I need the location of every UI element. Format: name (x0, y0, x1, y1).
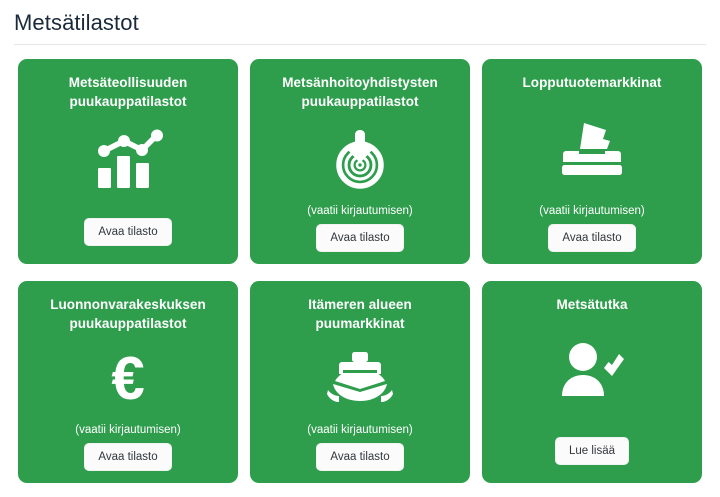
card-luonnonvarakeskuksen-puukauppatilastot[interactable]: Luonnonvarakeskuksen puukauppatilastot €… (18, 281, 238, 483)
page-header: Metsätilastot (0, 0, 720, 45)
card-login-note: (vaatii kirjautumisen) (307, 204, 412, 219)
svg-text:€: € (111, 347, 144, 411)
open-statistic-button[interactable]: Avaa tilasto (548, 224, 635, 252)
card-login-note: (vaatii kirjautumisen) (539, 204, 644, 219)
statistics-card-grid: Metsäteollisuuden puukauppatilastot (18, 59, 702, 483)
card-title: Itämeren alueen puumarkkinat (260, 295, 460, 333)
card-title: Metsänhoitoyhdistysten puukauppatilastot (260, 73, 460, 111)
card-lopputuotemarkkinat[interactable]: Lopputuotemarkkinat (vaatii kirjautumise… (482, 59, 702, 264)
bar-chart-trend-icon (28, 111, 228, 218)
card-title: Lopputuotemarkkinat (492, 73, 692, 92)
card-title: Metsäteollisuuden puukauppatilastot (28, 73, 228, 111)
card-login-note: (vaatii kirjautumisen) (75, 423, 180, 438)
card-metsateollisuuden-puukauppatilastot[interactable]: Metsäteollisuuden puukauppatilastot (18, 59, 238, 264)
card-login-note: (vaatii kirjautumisen) (307, 423, 412, 438)
card-metsanhoitoyhdistysten-puukauppatilastot[interactable]: Metsänhoitoyhdistysten puukauppatilastot (250, 59, 470, 264)
tree-stump-arrow-icon (260, 111, 460, 204)
euro-sign-icon: € (28, 333, 228, 423)
title-divider (14, 44, 706, 45)
card-title: Metsätutka (492, 295, 692, 314)
card-itameren-alueen-puumarkkinat[interactable]: Itämeren alueen puumarkkinat (vaatii kir… (250, 281, 470, 483)
user-check-icon (492, 314, 692, 437)
open-statistic-button[interactable]: Avaa tilasto (316, 224, 403, 252)
card-title: Luonnonvarakeskuksen puukauppatilastot (28, 295, 228, 333)
open-statistic-button[interactable]: Avaa tilasto (84, 443, 171, 471)
read-more-button[interactable]: Lue lisää (555, 437, 629, 465)
open-statistic-button[interactable]: Avaa tilasto (316, 443, 403, 471)
card-metsatutka[interactable]: Metsätutka Lue lisää (482, 281, 702, 483)
open-statistic-button[interactable]: Avaa tilasto (84, 218, 171, 246)
paper-tissue-box-icon (492, 92, 692, 204)
ship-icon (260, 333, 460, 423)
page-title: Metsätilastot (14, 8, 706, 41)
statistics-page: Metsätilastot Metsäteollisuuden puukaupp… (0, 0, 720, 497)
